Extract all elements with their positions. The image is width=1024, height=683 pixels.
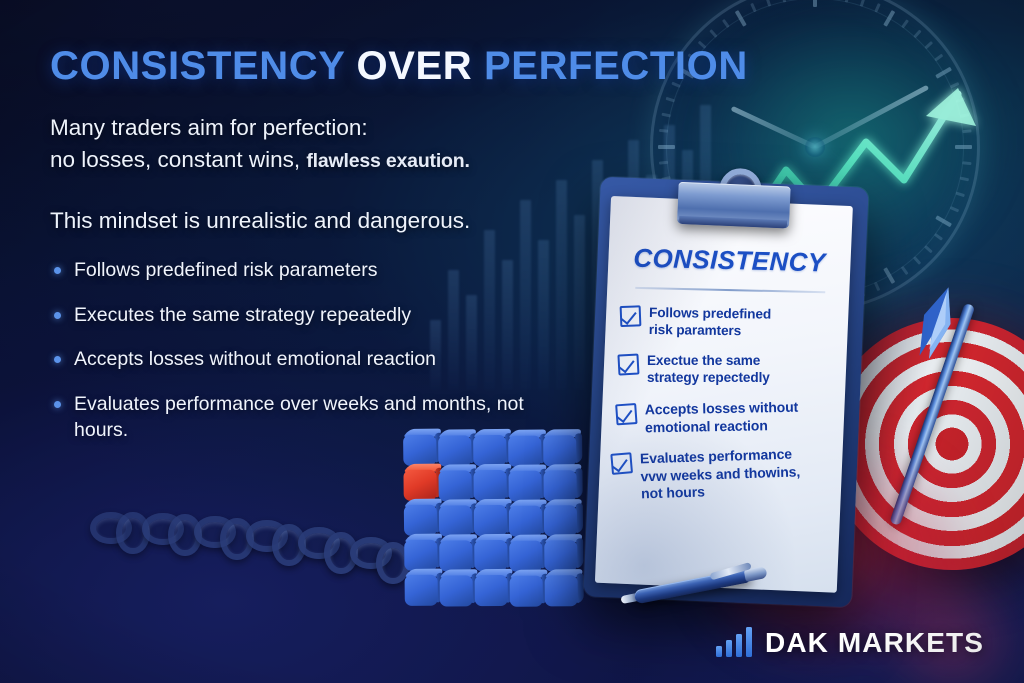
- cube-blue: [438, 470, 471, 501]
- intro-line-2-a: no losses, constant wins,: [50, 147, 306, 172]
- cube-face: [475, 575, 508, 606]
- cube-face: [474, 505, 507, 536]
- bullet-item: Follows predefined risk parameters: [54, 258, 574, 284]
- bullet-dot-icon: [54, 401, 61, 408]
- clock-tick-major: [813, 0, 817, 7]
- page-title: CONSISTENCY OVER PERFECTION: [50, 44, 748, 89]
- cube-blue: [545, 576, 578, 607]
- cube-face: [438, 470, 471, 501]
- cube-face: [404, 540, 437, 571]
- cube-red: [403, 470, 436, 501]
- cube-face: [543, 471, 576, 502]
- cube-face: [405, 575, 438, 606]
- title-part-perfection: PERFECTION: [484, 44, 748, 88]
- cube-blue: [473, 470, 506, 501]
- cube-blue: [543, 471, 576, 502]
- intro-paragraph: Many traders aim for perfection: no loss…: [50, 112, 610, 176]
- clipboard-clip-icon: [677, 166, 791, 229]
- bullet-dot-icon: [54, 356, 61, 363]
- cube-face: [473, 470, 506, 501]
- bullet-item: Executes the same strategy repeatedly: [54, 303, 574, 329]
- bullet-dot-icon: [54, 267, 61, 274]
- cube-face: [509, 505, 542, 536]
- brand-logo: DAK MARKETS: [716, 627, 984, 657]
- candlestick-bar: [574, 215, 585, 390]
- intro-line-3: This mindset is unrealistic and dangerou…: [50, 208, 610, 234]
- cube-blue: [544, 541, 577, 572]
- cube-blue: [439, 505, 472, 536]
- brand-name: DAK MARKETS: [765, 629, 984, 657]
- bullet-label: Follows predefined risk parameters: [74, 258, 377, 284]
- cube-blue: [475, 575, 508, 606]
- intro-line-2: no losses, constant wins, flawless exaut…: [50, 144, 610, 176]
- cube-face: [509, 540, 542, 571]
- intro-line-2-b: flawless exaution.: [306, 150, 469, 172]
- bullet-item: Evaluates performance over weeks and mon…: [54, 392, 574, 443]
- poster-canvas: CONSISTENCY OVER PERFECTION Many traders…: [0, 0, 1024, 683]
- logo-bar: [746, 627, 753, 657]
- logo-bar: [726, 640, 733, 657]
- intro-line-1: Many traders aim for perfection:: [50, 112, 610, 144]
- cube-blue: [509, 540, 542, 571]
- bullet-label: Evaluates performance over weeks and mon…: [74, 392, 574, 443]
- bullet-dot-icon: [54, 312, 61, 319]
- cube-face: [544, 506, 577, 537]
- cube-face: [439, 505, 472, 536]
- logo-bar: [716, 646, 723, 657]
- cube-face: [544, 541, 577, 572]
- cube-blue: [474, 505, 507, 536]
- cube-blue: [439, 540, 472, 571]
- cube-blue: [474, 540, 507, 571]
- cube-blue: [405, 575, 438, 606]
- title-part-consistency: CONSISTENCY: [50, 44, 345, 88]
- bullet-list: Follows predefined risk parametersExecut…: [54, 258, 574, 463]
- cube-face: [404, 505, 437, 536]
- cube-blue: [510, 575, 543, 606]
- bar-chart-icon: [716, 627, 753, 657]
- cube-blue: [544, 506, 577, 537]
- cube-face: [403, 470, 436, 501]
- logo-bar: [736, 634, 743, 657]
- cube-blue: [509, 505, 542, 536]
- cube-blue: [508, 470, 541, 501]
- cube-face: [474, 540, 507, 571]
- chain-decoration: [90, 486, 420, 582]
- paper-shading: [595, 196, 853, 593]
- cube-blue: [404, 540, 437, 571]
- cube-blue: [440, 575, 473, 606]
- cube-face: [510, 575, 543, 606]
- cube-blue: [404, 505, 437, 536]
- clipboard: CONSISTENCY Follows predefinedrisk param…: [583, 177, 868, 608]
- cube-face: [440, 575, 473, 606]
- cube-face: [545, 576, 578, 607]
- clipboard-paper: CONSISTENCY Follows predefinedrisk param…: [595, 196, 853, 593]
- clock-tick-major: [658, 145, 675, 149]
- title-part-over: OVER: [357, 44, 473, 88]
- cube-face: [508, 470, 541, 501]
- cube-face: [439, 540, 472, 571]
- bullet-label: Executes the same strategy repeatedly: [74, 303, 411, 329]
- bullet-item: Accepts losses without emotional reactio…: [54, 347, 574, 373]
- bullet-label: Accepts losses without emotional reactio…: [74, 347, 436, 373]
